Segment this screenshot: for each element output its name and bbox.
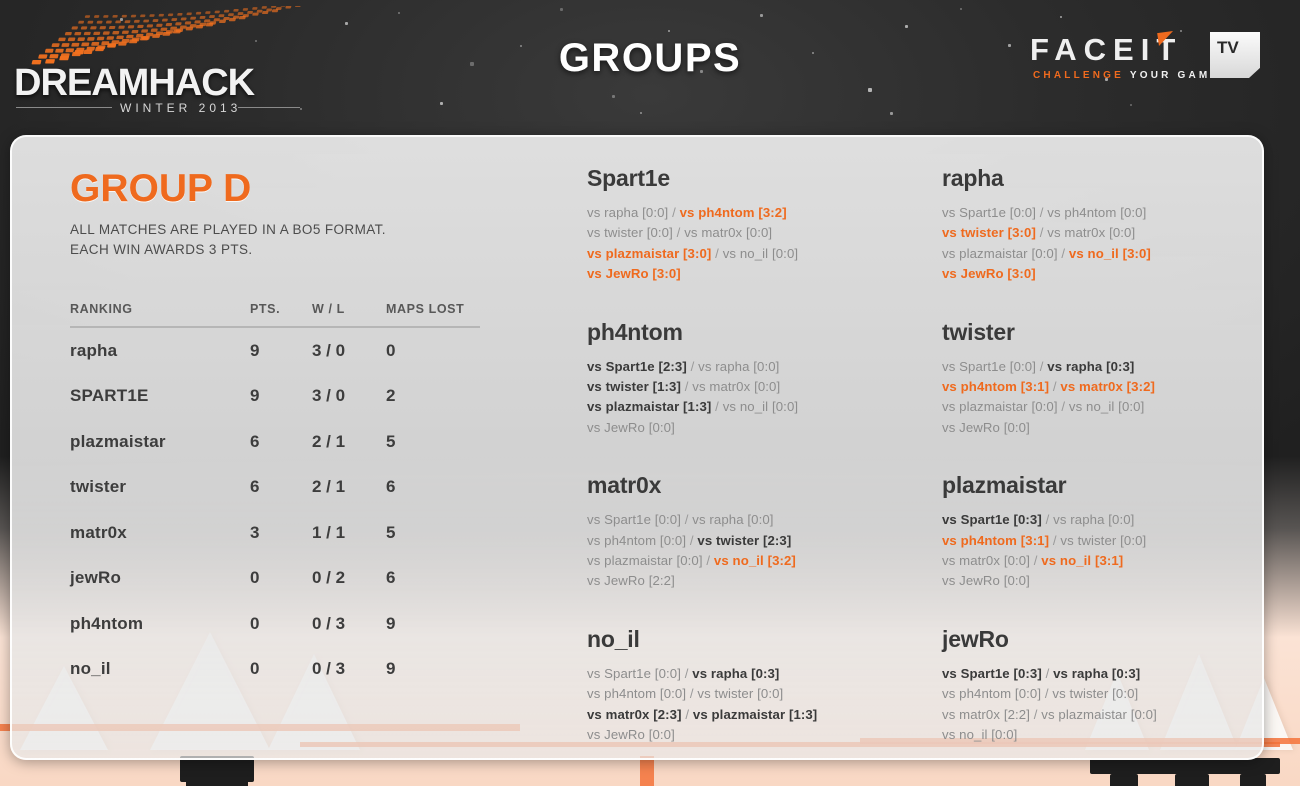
match-result-none: vs matr0x [0:0] (942, 553, 1030, 568)
group-subtitle-line2: EACH WIN AWARDS 3 PTS. (70, 240, 530, 260)
match-line: vs ph4ntom [0:0] / vs twister [0:0] (942, 684, 1264, 704)
match-line: vs plazmaistar [1:3] / vs no_il [0:0] (587, 397, 917, 417)
match-separator: / (1030, 707, 1041, 722)
standings-wl: 1 / 1 (312, 523, 386, 543)
match-separator: / (1042, 666, 1053, 681)
match-result-none: vs Spart1e [0:0] (587, 512, 681, 527)
standings-pts: 9 (250, 386, 312, 406)
standings-pts: 3 (250, 523, 312, 543)
standings-wl: 2 / 1 (312, 477, 386, 497)
player-match-block: jewRovs Spart1e [0:3] / vs rapha [0:3]vs… (942, 626, 1264, 746)
match-column-right: raphavs Spart1e [0:0] / vs ph4ntom [0:0]… (942, 165, 1264, 746)
match-result-loss: vs matr0x [2:3] (587, 707, 682, 722)
match-line: vs rapha [0:0] / vs ph4ntom [3:2] (587, 203, 917, 223)
standings-maps-lost: 5 (386, 523, 480, 543)
match-line: vs matr0x [2:3] / vs plazmaistar [1:3] (587, 705, 917, 725)
match-result-none: vs twister [0:0] (1052, 686, 1138, 701)
standings-rank: ph4ntom (70, 614, 250, 634)
standings-wl: 3 / 0 (312, 386, 386, 406)
group-subtitle: ALL MATCHES ARE PLAYED IN A BO5 FORMAT. … (70, 220, 530, 259)
match-result-none: vs plazmaistar [0:0] (942, 399, 1058, 414)
table-row: SPART1E93 / 02 (70, 374, 480, 420)
table-row: plazmaistar62 / 15 (70, 419, 480, 465)
match-result-none: vs JewRo [0:0] (587, 420, 675, 435)
match-separator: / (668, 205, 679, 220)
match-result-win: vs JewRo [3:0] (587, 266, 681, 281)
match-separator: / (682, 707, 693, 722)
match-line: vs JewRo [3:0] (587, 264, 917, 284)
match-result-none: vs rapha [0:0] (692, 512, 773, 527)
faceit-arrow-icon (1157, 31, 1175, 46)
tv-badge: TV (1210, 32, 1260, 78)
match-result-win: vs JewRo [3:0] (942, 266, 1036, 281)
match-separator: / (681, 666, 692, 681)
standings-header-row: RANKING PTS. W / L MAPS LOST (70, 302, 480, 326)
match-separator: / (703, 553, 714, 568)
match-result-loss: vs twister [1:3] (587, 379, 681, 394)
match-result-win: vs no_il [3:0] (1069, 246, 1151, 261)
match-line: vs plazmaistar [0:0] / vs no_il [0:0] (942, 397, 1264, 417)
table-row: matr0x31 / 15 (70, 510, 480, 556)
match-result-none: vs rapha [0:0] (587, 205, 668, 220)
standings-wl: 3 / 0 (312, 341, 386, 361)
standings-wl: 0 / 2 (312, 568, 386, 588)
standings-pts: 0 (250, 568, 312, 588)
match-line: vs Spart1e [0:0] / vs rapha [0:3] (942, 357, 1264, 377)
match-separator: / (1058, 246, 1069, 261)
match-result-loss: vs plazmaistar [1:3] (587, 399, 711, 414)
match-separator: / (686, 686, 697, 701)
match-line: vs matr0x [0:0] / vs no_il [3:1] (942, 551, 1264, 571)
player-match-block: raphavs Spart1e [0:0] / vs ph4ntom [0:0]… (942, 165, 1264, 285)
table-row: jewRo00 / 26 (70, 556, 480, 602)
standings-wl: 0 / 3 (312, 614, 386, 634)
match-result-win: vs ph4ntom [3:1] (942, 533, 1049, 548)
player-match-block: ph4ntomvs Spart1e [2:3] / vs rapha [0:0]… (587, 319, 917, 439)
group-panel: GROUP D ALL MATCHES ARE PLAYED IN A BO5 … (10, 135, 1264, 760)
player-name: ph4ntom (587, 319, 917, 346)
match-separator: / (681, 379, 692, 394)
match-line: vs twister [1:3] / vs matr0x [0:0] (587, 377, 917, 397)
match-line: vs JewRo [0:0] (587, 725, 917, 745)
standings-rank: matr0x (70, 523, 250, 543)
match-line: vs JewRo [0:0] (942, 418, 1264, 438)
match-result-none: vs JewRo [2:2] (587, 573, 675, 588)
match-result-loss: vs Spart1e [0:3] (942, 666, 1042, 681)
match-result-none: vs no_il [0:0] (1069, 399, 1144, 414)
match-result-none: vs no_il [0:0] (723, 246, 798, 261)
match-result-none: vs matr0x [0:0] (1047, 225, 1135, 240)
match-line: vs plazmaistar [0:0] / vs no_il [3:0] (942, 244, 1264, 264)
match-result-win: vs no_il [3:1] (1041, 553, 1123, 568)
standings-table: RANKING PTS. W / L MAPS LOST rapha93 / 0… (70, 302, 480, 692)
player-match-block: no_ilvs Spart1e [0:0] / vs rapha [0:3]vs… (587, 626, 917, 746)
match-line: vs Spart1e [0:3] / vs rapha [0:3] (942, 664, 1264, 684)
match-line: vs ph4ntom [3:1] / vs matr0x [3:2] (942, 377, 1264, 397)
match-result-win: vs no_il [3:2] (714, 553, 796, 568)
table-row: no_il00 / 39 (70, 647, 480, 693)
standings-pts: 9 (250, 341, 312, 361)
faceit-tv-logo: FACEIT CHALLENGE YOUR GAME TV (1030, 30, 1260, 92)
match-line: vs Spart1e [0:0] / vs rapha [0:3] (587, 664, 917, 684)
match-line: vs twister [0:0] / vs matr0x [0:0] (587, 223, 917, 243)
match-result-none: vs Spart1e [0:0] (942, 359, 1036, 374)
match-result-none: vs JewRo [0:0] (942, 420, 1030, 435)
standings-maps-lost: 2 (386, 386, 480, 406)
group-header: GROUP D ALL MATCHES ARE PLAYED IN A BO5 … (70, 167, 530, 259)
match-separator: / (1042, 512, 1053, 527)
match-line: vs matr0x [2:2] / vs plazmaistar [0:0] (942, 705, 1264, 725)
match-separator: / (1041, 686, 1052, 701)
column-header-ranking: RANKING (70, 302, 250, 316)
match-result-none: vs matr0x [0:0] (684, 225, 772, 240)
match-line: vs JewRo [2:2] (587, 571, 917, 591)
match-line: vs ph4ntom [3:1] / vs twister [0:0] (942, 531, 1264, 551)
match-result-win: vs twister [3:0] (942, 225, 1036, 240)
player-name: plazmaistar (942, 472, 1264, 499)
match-result-none: vs no_il [0:0] (723, 399, 798, 414)
match-result-none: vs ph4ntom [0:0] (587, 686, 686, 701)
match-result-none: vs plazmaistar [0:0] (587, 553, 703, 568)
player-name: matr0x (587, 472, 917, 499)
match-result-loss: vs rapha [0:3] (1053, 666, 1140, 681)
match-result-none: vs plazmaistar [0:0] (1041, 707, 1157, 722)
match-line: vs Spart1e [2:3] / vs rapha [0:0] (587, 357, 917, 377)
match-result-loss: vs Spart1e [0:3] (942, 512, 1042, 527)
player-name: Spart1e (587, 165, 917, 192)
match-separator: / (1036, 359, 1047, 374)
match-result-none: vs ph4ntom [0:0] (942, 686, 1041, 701)
match-line: vs Spart1e [0:3] / vs rapha [0:0] (942, 510, 1264, 530)
standings-maps-lost: 6 (386, 568, 480, 588)
player-name: twister (942, 319, 1264, 346)
header-bar: DREAMHACK WINTER 2013 GROUPS FACEIT CHAL… (0, 0, 1300, 128)
dreamhack-edition: WINTER 2013 (120, 101, 241, 115)
match-result-win: vs matr0x [3:2] (1060, 379, 1155, 394)
match-result-loss: vs rapha [0:3] (692, 666, 779, 681)
match-separator: / (1049, 379, 1060, 394)
standings-maps-lost: 0 (386, 341, 480, 361)
match-result-none: vs matr0x [0:0] (692, 379, 780, 394)
match-separator: / (681, 512, 692, 527)
standings-divider (70, 326, 480, 328)
match-result-none: vs JewRo [0:0] (587, 727, 675, 742)
match-column-left: Spart1evs rapha [0:0] / vs ph4ntom [3:2]… (587, 165, 917, 746)
match-result-win: vs ph4ntom [3:1] (942, 379, 1049, 394)
match-result-none: vs no_il [0:0] (942, 727, 1017, 742)
player-match-block: plazmaistarvs Spart1e [0:3] / vs rapha [… (942, 472, 1264, 592)
match-result-none: vs twister [0:0] (697, 686, 783, 701)
player-match-block: matr0xvs Spart1e [0:0] / vs rapha [0:0]v… (587, 472, 917, 592)
match-result-loss: vs Spart1e [2:3] (587, 359, 687, 374)
table-row: ph4ntom00 / 39 (70, 601, 480, 647)
table-row: twister62 / 16 (70, 465, 480, 511)
match-line: vs plazmaistar [0:0] / vs no_il [3:2] (587, 551, 917, 571)
standings-rank: plazmaistar (70, 432, 250, 452)
match-result-win: vs ph4ntom [3:2] (680, 205, 787, 220)
player-name: rapha (942, 165, 1264, 192)
table-row: rapha93 / 00 (70, 328, 480, 374)
player-name: jewRo (942, 626, 1264, 653)
match-separator: / (711, 246, 722, 261)
match-result-none: vs twister [0:0] (1060, 533, 1146, 548)
match-separator: / (711, 399, 722, 414)
broadcast-graphic: DREAMHACK WINTER 2013 GROUPS FACEIT CHAL… (0, 0, 1300, 786)
match-result-none: vs Spart1e [0:0] (587, 666, 681, 681)
match-line: vs ph4ntom [0:0] / vs twister [2:3] (587, 531, 917, 551)
player-match-block: twistervs Spart1e [0:0] / vs rapha [0:3]… (942, 319, 1264, 439)
match-line: vs JewRo [0:0] (587, 418, 917, 438)
match-result-loss: vs twister [2:3] (697, 533, 791, 548)
standings-maps-lost: 6 (386, 477, 480, 497)
match-result-none: vs rapha [0:0] (1053, 512, 1134, 527)
match-line: vs Spart1e [0:0] / vs rapha [0:0] (587, 510, 917, 530)
match-result-loss: vs rapha [0:3] (1047, 359, 1134, 374)
standings-rank: jewRo (70, 568, 250, 588)
match-result-loss: vs plazmaistar [1:3] (693, 707, 817, 722)
standings-pts: 0 (250, 614, 312, 634)
player-name: no_il (587, 626, 917, 653)
match-line: vs twister [3:0] / vs matr0x [0:0] (942, 223, 1264, 243)
match-result-none: vs twister [0:0] (587, 225, 673, 240)
match-line: vs Spart1e [0:0] / vs ph4ntom [0:0] (942, 203, 1264, 223)
match-separator: / (687, 359, 698, 374)
match-result-none: vs JewRo [0:0] (942, 573, 1030, 588)
standings-wl: 0 / 3 (312, 659, 386, 679)
match-line: vs ph4ntom [0:0] / vs twister [0:0] (587, 684, 917, 704)
match-separator: / (686, 533, 697, 548)
match-result-win: vs plazmaistar [3:0] (587, 246, 711, 261)
match-result-none: vs Spart1e [0:0] (942, 205, 1036, 220)
match-result-none: vs rapha [0:0] (698, 359, 779, 374)
match-line: vs JewRo [3:0] (942, 264, 1264, 284)
match-line: vs no_il [0:0] (942, 725, 1264, 745)
standings-rank: no_il (70, 659, 250, 679)
column-header-mapslost: MAPS LOST (386, 302, 480, 316)
standings-rank: rapha (70, 341, 250, 361)
match-separator: / (673, 225, 684, 240)
match-separator: / (1036, 205, 1047, 220)
standings-maps-lost: 9 (386, 614, 480, 634)
standings-rank: twister (70, 477, 250, 497)
standings-maps-lost: 5 (386, 432, 480, 452)
faceit-tagline: CHALLENGE YOUR GAME (1033, 70, 1220, 81)
match-separator: / (1030, 553, 1041, 568)
match-separator: / (1049, 533, 1060, 548)
match-result-none: vs matr0x [2:2] (942, 707, 1030, 722)
standings-pts: 6 (250, 432, 312, 452)
match-separator: / (1058, 399, 1069, 414)
group-title: GROUP D (70, 167, 530, 211)
standings-pts: 0 (250, 659, 312, 679)
match-result-none: vs plazmaistar [0:0] (942, 246, 1058, 261)
player-match-block: Spart1evs rapha [0:0] / vs ph4ntom [3:2]… (587, 165, 917, 285)
match-line: vs plazmaistar [3:0] / vs no_il [0:0] (587, 244, 917, 264)
match-result-none: vs ph4ntom [0:0] (1047, 205, 1146, 220)
column-header-wl: W / L (312, 302, 386, 316)
match-separator: / (1036, 225, 1047, 240)
standings-maps-lost: 9 (386, 659, 480, 679)
match-result-none: vs ph4ntom [0:0] (587, 533, 686, 548)
match-line: vs JewRo [0:0] (942, 571, 1264, 591)
standings-rank: SPART1E (70, 386, 250, 406)
standings-pts: 6 (250, 477, 312, 497)
group-subtitle-line1: ALL MATCHES ARE PLAYED IN A BO5 FORMAT. (70, 220, 530, 240)
standings-body: rapha93 / 00SPART1E93 / 02plazmaistar62 … (70, 328, 480, 692)
column-header-pts: PTS. (250, 302, 312, 316)
standings-wl: 2 / 1 (312, 432, 386, 452)
